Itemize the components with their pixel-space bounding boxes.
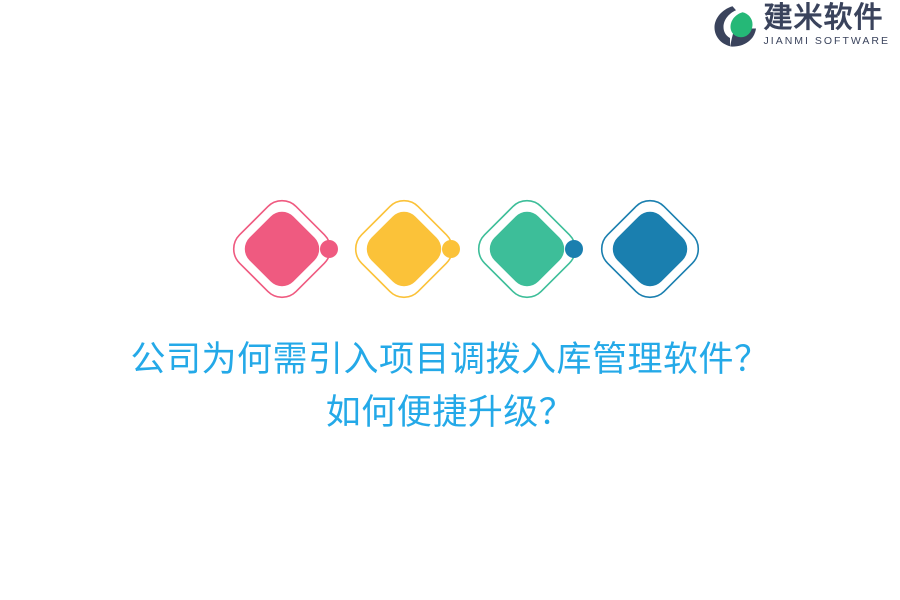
diamond-dot-pink bbox=[320, 240, 338, 258]
diamond-dot-yellow bbox=[442, 240, 460, 258]
diamond-fill-pink bbox=[238, 205, 326, 293]
decorative-diamond-row bbox=[0, 183, 900, 315]
diamond-fill-yellow bbox=[360, 205, 448, 293]
page-title: 公司为何需引入项目调拨入库管理软件？ 如何便捷升级？ bbox=[0, 334, 900, 440]
diamond-fill-green bbox=[483, 205, 571, 293]
diamond-blue bbox=[584, 183, 716, 315]
brand-name-cn: 建米软件 bbox=[764, 3, 890, 33]
brand-logo: 建米软件 JIANMI SOFTWARE bbox=[712, 0, 890, 52]
jianmi-leaf-logo-icon bbox=[712, 3, 758, 49]
diamond-dot-blue bbox=[565, 240, 583, 258]
brand-name-en: JIANMI SOFTWARE bbox=[764, 35, 890, 49]
page-title-line-2: 如何便捷升级？ bbox=[0, 387, 900, 440]
diamond-pink bbox=[216, 183, 348, 315]
diamond-fill-blue bbox=[606, 205, 694, 293]
diamond-green bbox=[461, 183, 593, 315]
page-title-line-1: 公司为何需引入项目调拨入库管理软件？ bbox=[0, 334, 900, 387]
diamond-yellow bbox=[338, 183, 470, 315]
